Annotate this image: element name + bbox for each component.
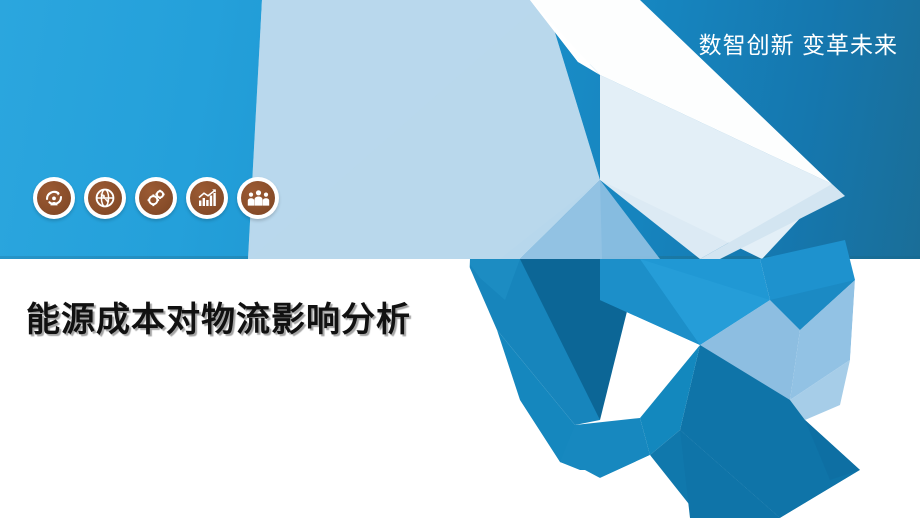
- icon-badge-recycle-person[interactable]: [33, 177, 75, 219]
- gears-icon: [139, 181, 173, 215]
- globe-icon: [88, 181, 122, 215]
- tagline: 数智创新 变革未来: [699, 26, 898, 60]
- low-poly-decoration: [0, 0, 920, 518]
- icon-badge-globe[interactable]: [84, 177, 126, 219]
- people-group-icon: [241, 181, 275, 215]
- icon-badge-gears[interactable]: [135, 177, 177, 219]
- icon-badge-bar-chart-growth[interactable]: [186, 177, 228, 219]
- recycle-person-icon: [37, 181, 71, 215]
- icon-badge-people-group[interactable]: [237, 177, 279, 219]
- slide-canvas: 数智创新 变革未来: [0, 0, 920, 518]
- icon-row: [33, 177, 279, 219]
- page-title: 能源成本对物流影响分析: [26, 292, 411, 341]
- bar-chart-growth-icon: [190, 181, 224, 215]
